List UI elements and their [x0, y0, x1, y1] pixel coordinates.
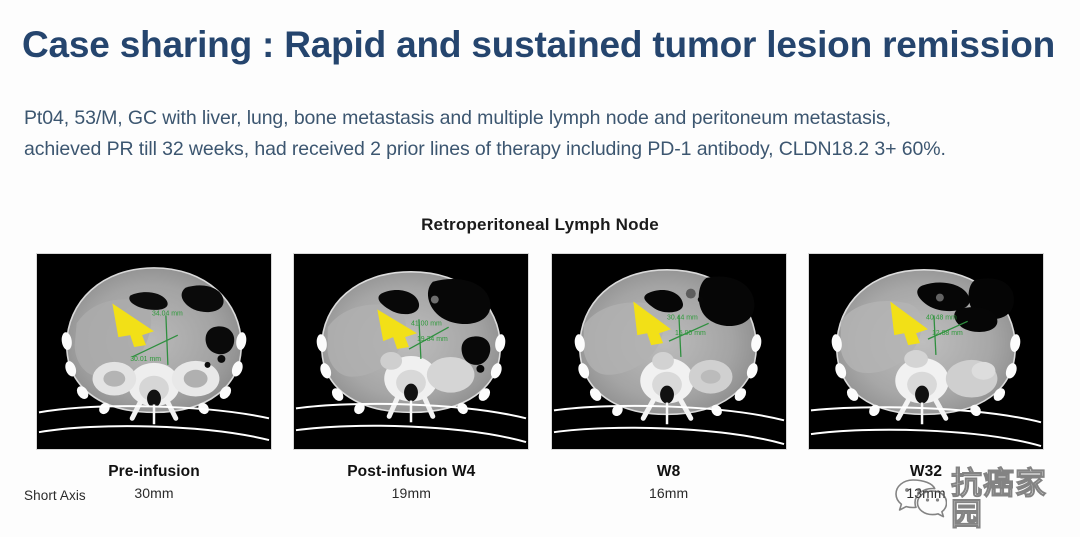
- scan-caption-w8: W8 16mm: [551, 462, 787, 512]
- scan-measurement-value: 16mm: [551, 482, 787, 504]
- svg-text:41.00 mm: 41.00 mm: [411, 320, 442, 327]
- scan-measurement-value: 13mm: [808, 482, 1044, 504]
- scan-caption-strip: Pre-infusion 30mm Post-infusion W4 19mm …: [36, 462, 1044, 512]
- svg-text:19.34 mm: 19.34 mm: [417, 336, 448, 343]
- ct-scan-strip: 34.04 mm 30.01 mm: [36, 253, 1044, 450]
- scan-caption-pre-infusion: Pre-infusion 30mm: [36, 462, 272, 512]
- svg-text:30.44 mm: 30.44 mm: [667, 314, 698, 321]
- scan-measurement-value: 19mm: [293, 482, 529, 504]
- patient-summary-line-1: Pt04, 53/M, GC with liver, lung, bone me…: [24, 103, 1064, 134]
- scan-caption-w4: Post-infusion W4 19mm: [293, 462, 529, 512]
- ct-scan-panel-w4: 41.00 mm 19.34 mm: [293, 253, 529, 450]
- ct-scan-panel-w32: 40.48 mm 12.88 mm: [808, 253, 1044, 450]
- ct-scan-panel-w8: 30.44 mm 15.90 mm: [551, 253, 787, 450]
- section-heading: Retroperitoneal Lymph Node: [0, 215, 1080, 235]
- scan-caption-title: W32: [808, 462, 1044, 482]
- scan-caption-title: Post-infusion W4: [293, 462, 529, 482]
- svg-text:34.04 mm: 34.04 mm: [152, 310, 183, 317]
- ct-scan-panel-pre-infusion: 34.04 mm 30.01 mm: [36, 253, 272, 450]
- scan-caption-title: W8: [551, 462, 787, 482]
- scan-caption-w32: W32 13mm: [808, 462, 1044, 512]
- short-axis-row-label: Short Axis: [24, 488, 86, 503]
- svg-text:12.88 mm: 12.88 mm: [932, 330, 963, 337]
- scan-caption-title: Pre-infusion: [36, 462, 272, 482]
- svg-text:15.90 mm: 15.90 mm: [675, 330, 706, 337]
- svg-text:40.48 mm: 40.48 mm: [926, 314, 957, 321]
- svg-text:30.01 mm: 30.01 mm: [130, 356, 161, 363]
- patient-summary: Pt04, 53/M, GC with liver, lung, bone me…: [24, 103, 1064, 165]
- page-title: Case sharing : Rapid and sustained tumor…: [22, 26, 1068, 65]
- patient-summary-line-2: achieved PR till 32 weeks, had received …: [24, 134, 1064, 165]
